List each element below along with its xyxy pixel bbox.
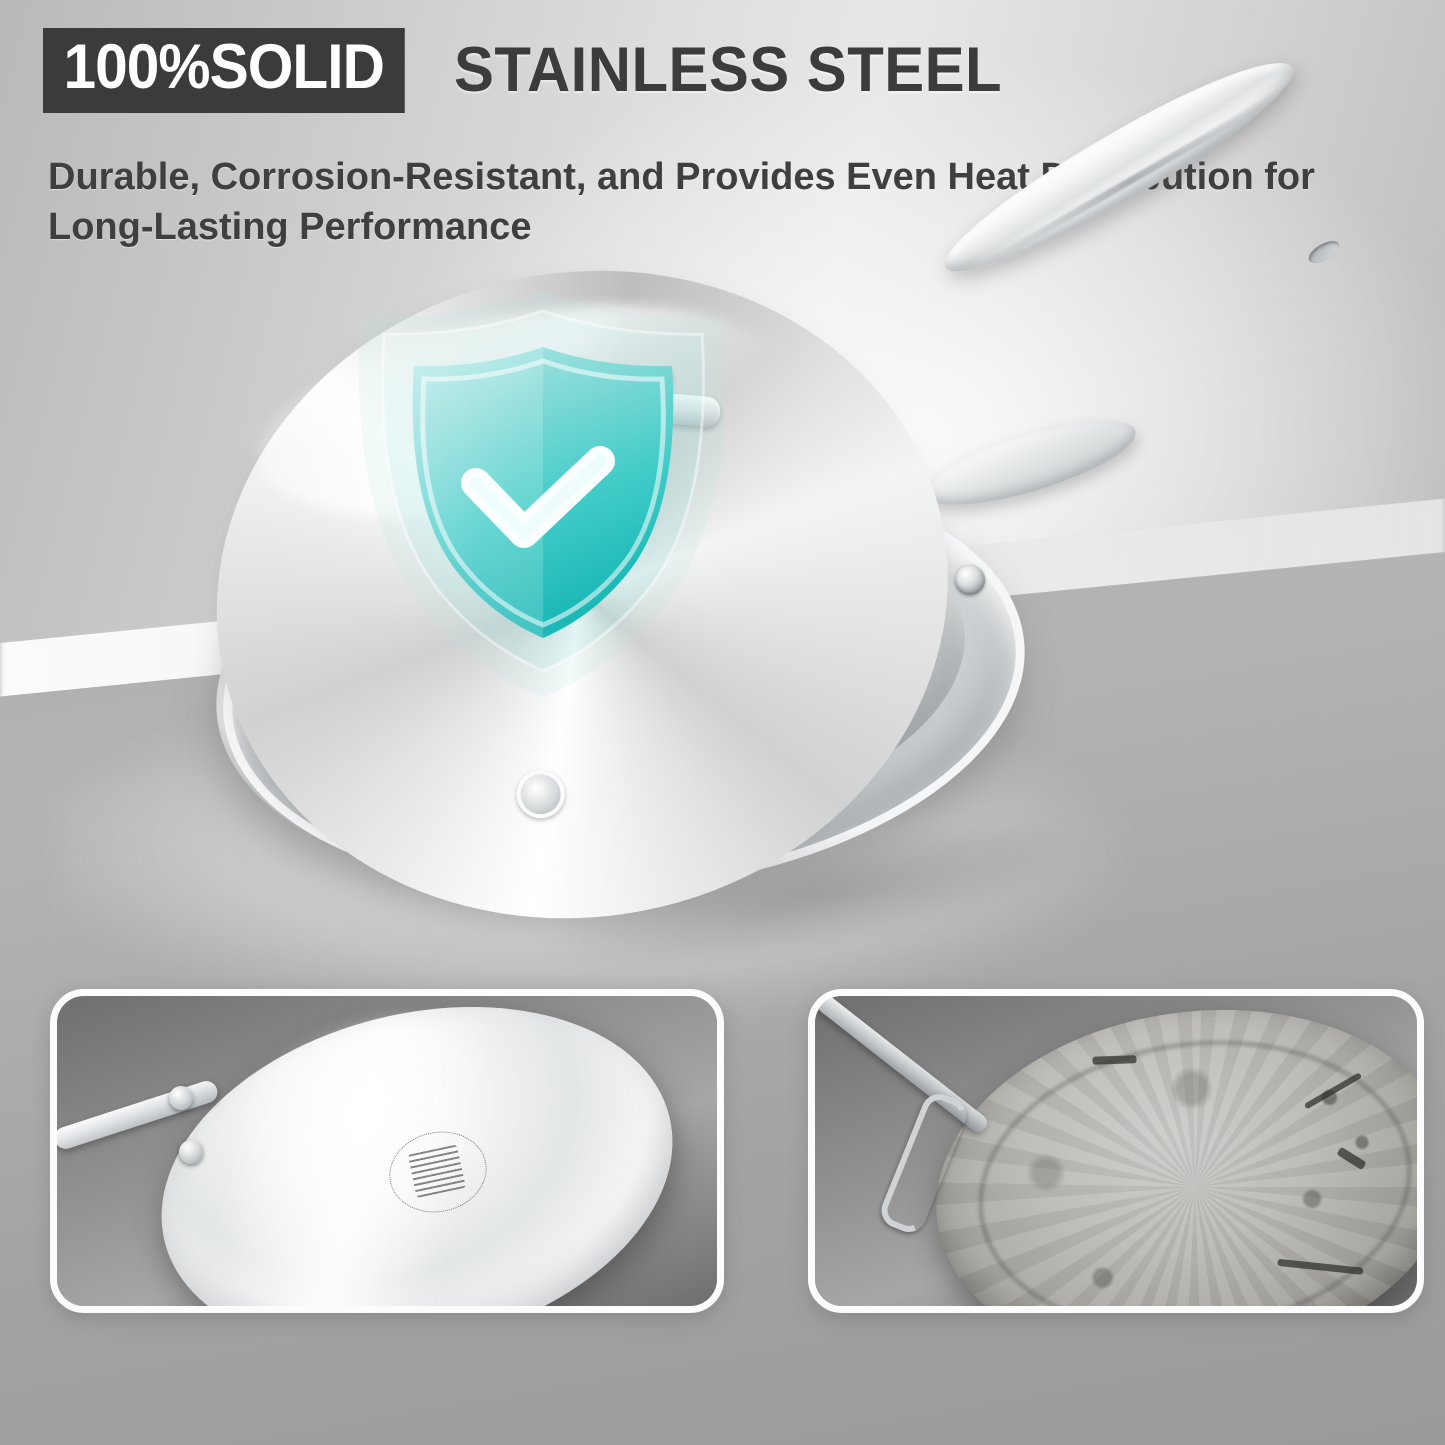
scratch-mark <box>1092 1055 1136 1065</box>
shield-check-icon <box>328 285 758 705</box>
solid-badge: 100%SOLID <box>43 28 404 113</box>
hero-product-scene <box>0 205 1445 995</box>
pan-rivet-icon <box>955 565 985 595</box>
handle-hang-hole-icon <box>1305 237 1342 268</box>
pan-handle <box>962 230 1352 530</box>
traditional-pan-panel[interactable] <box>808 989 1424 1313</box>
product-infographic: 100%SOLIDSTAINLESS STEEL Durable, Corros… <box>0 0 1445 1445</box>
comparison-section: OUR PAN 3-layer stainless steel TRADITIO… <box>0 975 1445 1445</box>
headline-rest: STAINLESS STEEL <box>454 39 1002 102</box>
our-pan-panel[interactable] <box>50 989 724 1313</box>
our-pan-rivet-icon <box>169 1086 193 1110</box>
handle-neck <box>917 404 1144 522</box>
our-pan-rivet-icon <box>179 1140 203 1164</box>
